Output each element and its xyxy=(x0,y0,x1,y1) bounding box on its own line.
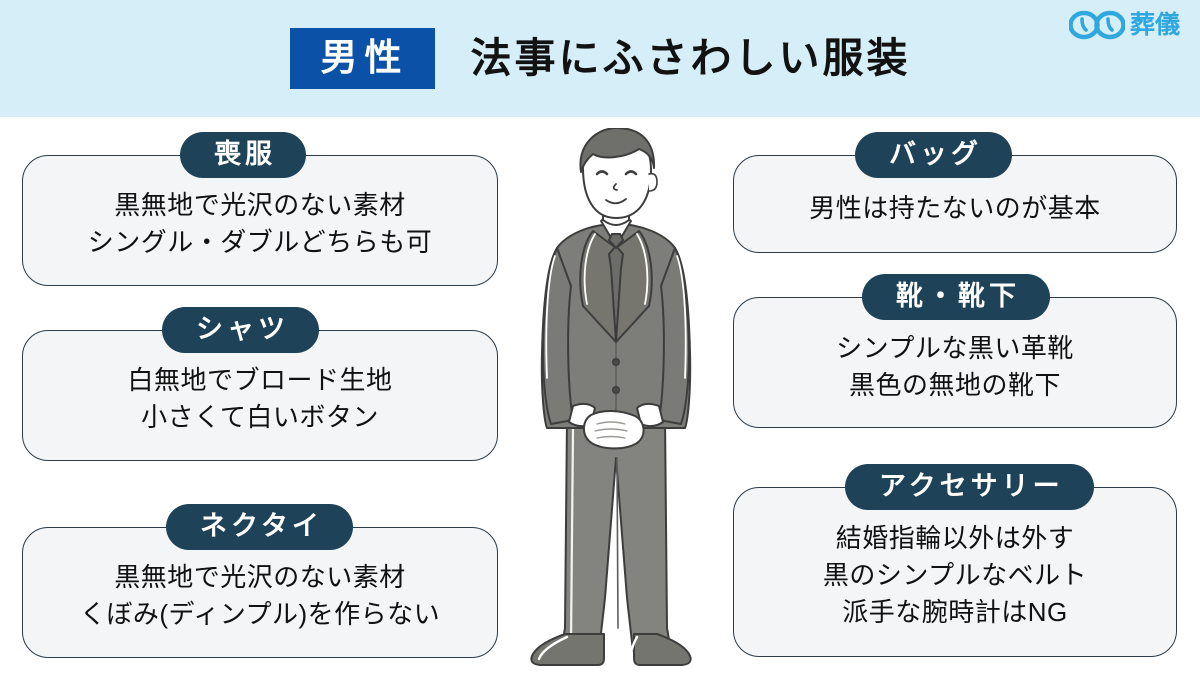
page-title: 法事にふさわしい服装 xyxy=(471,38,911,79)
card-shirt-text: 白無地でブロード生地 小さくて白いボタン xyxy=(22,362,498,436)
gender-badge: 男性 xyxy=(290,28,435,89)
card-shirt-line-1: 白無地でブロード生地 xyxy=(22,362,498,399)
brand-logo: 葬儀 xyxy=(1069,8,1180,42)
card-bag-line-1: 男性は持たないのが基本 xyxy=(733,190,1177,227)
card-shirt-line-2: 小さくて白いボタン xyxy=(22,399,498,436)
card-mofuku-line-1: 黒無地で光沢のない素材 xyxy=(22,187,498,224)
card-tie-line-2: くぼみ(ディンプル)を作らない xyxy=(22,596,498,633)
badge-shirt: シャツ xyxy=(162,307,319,353)
card-shoes-line-2: 黒色の無地の靴下 xyxy=(733,367,1177,404)
card-bag-text: 男性は持たないのが基本 xyxy=(733,190,1177,227)
card-shoes-text: シンプルな黒い革靴 黒色の無地の靴下 xyxy=(733,330,1177,404)
header-content: 男性 法事にふさわしい服装 xyxy=(0,0,1200,117)
card-tie-text: 黒無地で光沢のない素材 くぼみ(ディンプル)を作らない xyxy=(22,559,498,633)
badge-bag: バッグ xyxy=(855,132,1012,178)
card-mofuku-text: 黒無地で光沢のない素材 シングル・ダブルどちらも可 xyxy=(22,187,498,261)
card-shoes-line-1: シンプルな黒い革靴 xyxy=(733,330,1177,367)
infographic-page: 男性 法事にふさわしい服装 葬儀 喪服 黒無地で光沢のない素材 シングル・ダブル… xyxy=(0,0,1200,675)
card-accessory-line-3: 派手な腕時計はNG xyxy=(733,594,1177,631)
logo-text: 葬儀 xyxy=(1130,13,1180,38)
badge-tie: ネクタイ xyxy=(166,504,353,550)
badge-mofuku: 喪服 xyxy=(180,132,306,178)
logo-glasses-icon xyxy=(1069,8,1125,42)
badge-shoes: 靴・靴下 xyxy=(862,274,1050,320)
card-tie-line-1: 黒無地で光沢のない素材 xyxy=(22,559,498,596)
card-accessory-line-2: 黒のシンプルなベルト xyxy=(733,557,1177,594)
card-accessory-line-1: 結婚指輪以外は外す xyxy=(733,520,1177,557)
card-mofuku-line-2: シングル・ダブルどちらも可 xyxy=(22,224,498,261)
badge-accessory: アクセサリー xyxy=(845,464,1094,510)
card-accessory-text: 結婚指輪以外は外す 黒のシンプルなベルト 派手な腕時計はNG xyxy=(733,520,1177,631)
page-header: 男性 法事にふさわしい服装 葬儀 xyxy=(0,0,1200,117)
illustration-man-in-suit xyxy=(521,128,711,673)
